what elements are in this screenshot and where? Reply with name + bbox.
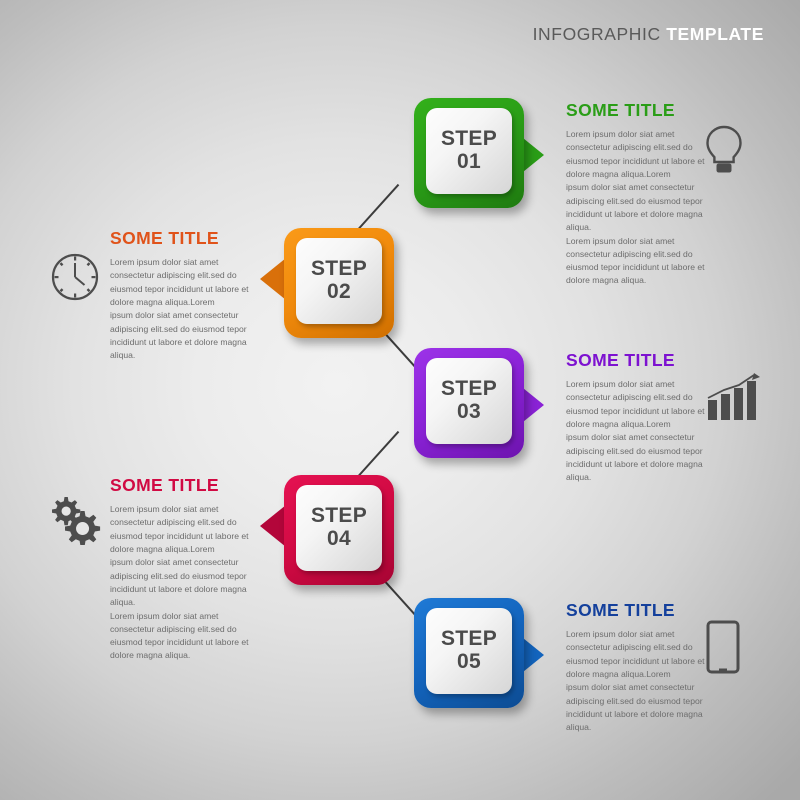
step-number-02: 02	[327, 281, 351, 304]
body-paragraph: Lorem ipsum dolor siat amet consectetur …	[566, 235, 714, 288]
step-number-04: 04	[327, 528, 351, 551]
body-paragraph: Lorem ipsum dolor siat amet consectetur …	[566, 628, 714, 681]
step-box-04[interactable]: STEP 04	[284, 475, 394, 585]
body-paragraph: Lorem ipsum dolor siat amet consectetur …	[110, 610, 258, 663]
body-paragraph: Lorem ipsum dolor siat amet consectetur …	[110, 256, 258, 309]
section-title-01: SOME TITLE	[566, 100, 714, 121]
step-label-03: STEP	[441, 378, 497, 401]
section-title-04: SOME TITLE	[110, 475, 258, 496]
step-box-01[interactable]: STEP 01	[414, 98, 524, 208]
body-paragraph: ipsum dolor siat amet consectetur adipis…	[566, 681, 714, 734]
step-number-05: 05	[457, 651, 481, 674]
body-paragraph: ipsum dolor siat amet consectetur adipis…	[566, 181, 714, 234]
infographic-canvas: INFOGRAPHIC TEMPLATE STEP 01 SOME TITLE …	[0, 0, 800, 800]
step-box-05[interactable]: STEP 05	[414, 598, 524, 708]
section-body-03: Lorem ipsum dolor siat amet consectetur …	[566, 378, 714, 485]
text-block-05: SOME TITLE Lorem ipsum dolor siat amet c…	[566, 600, 714, 735]
body-paragraph: Lorem ipsum dolor siat amet consectetur …	[566, 128, 714, 181]
body-paragraph: Lorem ipsum dolor siat amet consectetur …	[110, 503, 258, 556]
step-number-03: 03	[457, 401, 481, 424]
header-word-template: TEMPLATE	[666, 24, 764, 44]
text-block-01: SOME TITLE Lorem ipsum dolor siat amet c…	[566, 100, 714, 288]
text-block-03: SOME TITLE Lorem ipsum dolor siat amet c…	[566, 350, 714, 485]
step-label-02: STEP	[311, 258, 367, 281]
gears-icon	[48, 495, 104, 545]
section-body-02: Lorem ipsum dolor siat amet consectetur …	[110, 256, 258, 363]
step-box-03[interactable]: STEP 03	[414, 348, 524, 458]
step-card-03: STEP 03	[426, 358, 512, 444]
bar-chart-icon	[706, 372, 762, 422]
clock-icon	[50, 252, 100, 302]
step-number-01: 01	[457, 151, 481, 174]
section-title-05: SOME TITLE	[566, 600, 714, 621]
section-title-03: SOME TITLE	[566, 350, 714, 371]
step-card-05: STEP 05	[426, 608, 512, 694]
body-paragraph: ipsum dolor siat amet consectetur adipis…	[110, 556, 258, 609]
body-paragraph: ipsum dolor siat amet consectetur adipis…	[566, 431, 714, 484]
step-label-05: STEP	[441, 628, 497, 651]
step-card-02: STEP 02	[296, 238, 382, 324]
body-paragraph: Lorem ipsum dolor siat amet consectetur …	[566, 378, 714, 431]
step-card-04: STEP 04	[296, 485, 382, 571]
arrow-step-04	[260, 505, 286, 547]
step-box-02[interactable]: STEP 02	[284, 228, 394, 338]
section-title-02: SOME TITLE	[110, 228, 258, 249]
section-body-01: Lorem ipsum dolor siat amet consectetur …	[566, 128, 714, 288]
text-block-04: SOME TITLE Lorem ipsum dolor siat amet c…	[110, 475, 258, 663]
body-paragraph: ipsum dolor siat amet consectetur adipis…	[110, 309, 258, 362]
lightbulb-icon	[704, 124, 744, 176]
section-body-04: Lorem ipsum dolor siat amet consectetur …	[110, 503, 258, 663]
step-label-01: STEP	[441, 128, 497, 151]
arrow-step-02	[260, 258, 286, 300]
step-card-01: STEP 01	[426, 108, 512, 194]
header-word-infographic: INFOGRAPHIC	[533, 24, 661, 44]
step-label-04: STEP	[311, 505, 367, 528]
smartphone-icon	[706, 620, 740, 674]
text-block-02: SOME TITLE Lorem ipsum dolor siat amet c…	[110, 228, 258, 363]
page-title: INFOGRAPHIC TEMPLATE	[533, 24, 764, 45]
section-body-05: Lorem ipsum dolor siat amet consectetur …	[566, 628, 714, 735]
